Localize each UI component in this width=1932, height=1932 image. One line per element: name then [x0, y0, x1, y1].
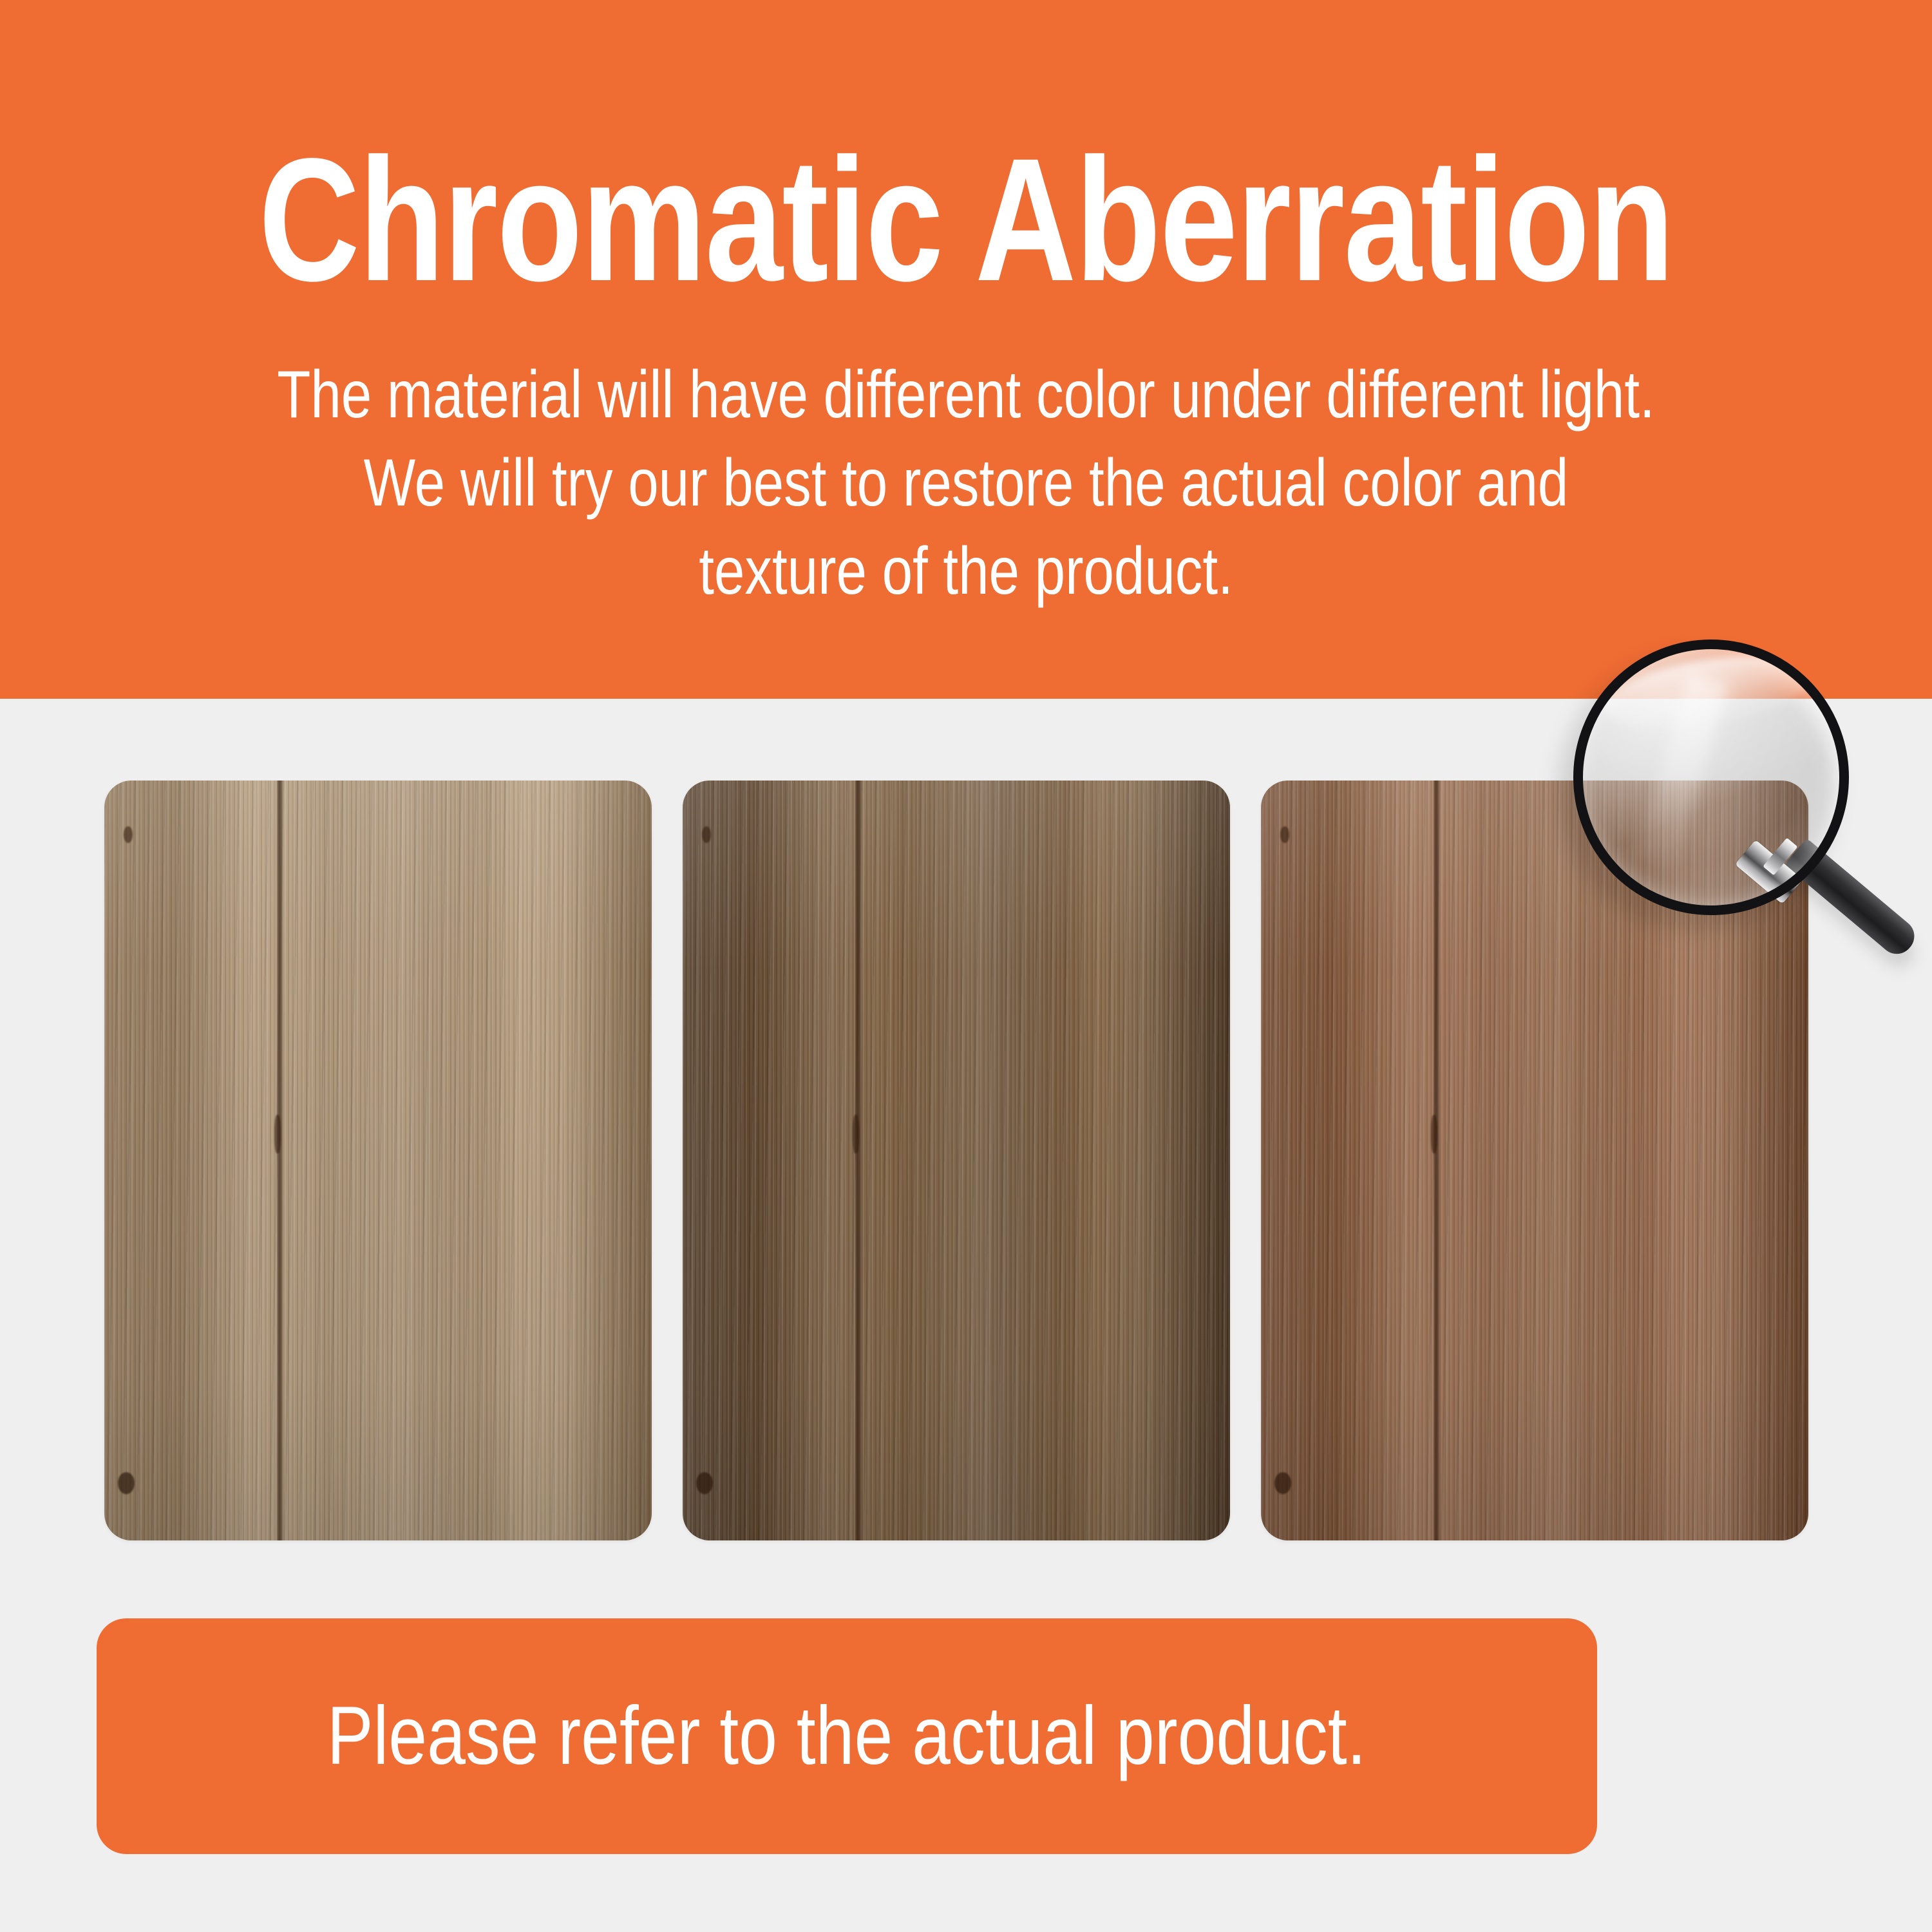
- wood-knot-icon: [124, 826, 133, 843]
- wood-knot-icon: [118, 1472, 135, 1494]
- wood-grain-texture: [1261, 781, 1808, 1540]
- wood-knot-icon: [1280, 826, 1289, 843]
- warm-cherry-swatch[interactable]: [1261, 781, 1808, 1540]
- footer-banner-text: Please refer to the actual product.: [327, 1695, 1367, 1777]
- wood-grain-texture: [683, 781, 1230, 1540]
- wood-knot-icon: [696, 1472, 713, 1494]
- wood-swatch-row: [104, 781, 1808, 1540]
- footer-banner: Please refer to the actual product.: [97, 1618, 1597, 1854]
- page-subtitle: The material will have different color u…: [174, 351, 1758, 616]
- dark-walnut-swatch[interactable]: [683, 781, 1230, 1540]
- subtitle-line-3: texture of the product.: [174, 527, 1758, 616]
- wood-grain-texture: [104, 781, 652, 1540]
- page-title: Chromatic Aberration: [193, 132, 1739, 307]
- light-oak-swatch[interactable]: [104, 781, 652, 1540]
- wood-knot-icon: [274, 1115, 281, 1153]
- chromatic-aberration-infographic: Chromatic Aberration The material will h…: [0, 0, 1932, 1932]
- header-band: Chromatic Aberration The material will h…: [0, 0, 1932, 699]
- subtitle-line-2: We will try our best to restore the actu…: [174, 439, 1758, 527]
- wood-knot-icon: [1431, 1115, 1437, 1153]
- subtitle-line-1: The material will have different color u…: [174, 351, 1758, 439]
- wood-knot-icon: [702, 826, 711, 843]
- wood-knot-icon: [853, 1115, 859, 1153]
- wood-knot-icon: [1274, 1472, 1291, 1494]
